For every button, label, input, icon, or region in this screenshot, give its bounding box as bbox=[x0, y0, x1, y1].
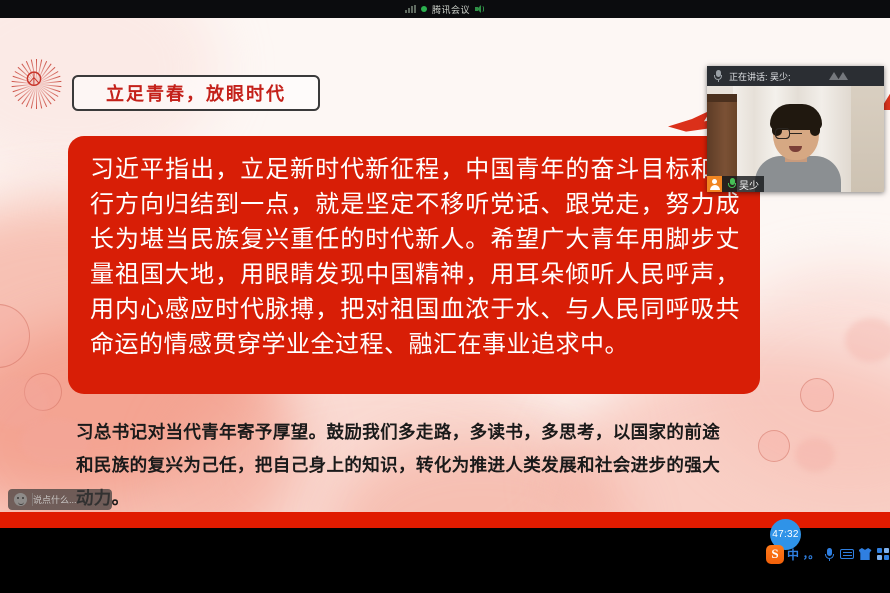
video-feed: 吴少 bbox=[707, 86, 884, 192]
commentary-paragraph: 习总书记对当代青年寄予厚望。鼓励我们多走路，多读书，多思考，以国家的前途和民族的… bbox=[76, 416, 720, 515]
system-top-bar: 腾讯会议 bbox=[0, 0, 890, 18]
page-title: 立足青春，放眼时代 bbox=[106, 80, 286, 106]
divider bbox=[32, 493, 33, 506]
decorative-circle bbox=[0, 378, 48, 428]
sogou-ime-toolbar[interactable]: S 中 ，。 bbox=[766, 543, 890, 565]
chat-input-bar[interactable]: 说点什么... bbox=[8, 489, 112, 510]
video-panel-header[interactable]: 正在讲话: 吴少; bbox=[707, 66, 884, 86]
participant-hair bbox=[770, 104, 822, 130]
decorative-circle bbox=[0, 304, 30, 368]
signal-bars-icon bbox=[405, 5, 416, 13]
decorative-circle bbox=[795, 438, 835, 472]
chat-input-placeholder[interactable]: 说点什么... bbox=[33, 493, 77, 506]
app-name-label: 腾讯会议 bbox=[432, 3, 470, 16]
chinese-mode-toggle[interactable]: 中 bbox=[784, 543, 802, 565]
decorative-circle bbox=[800, 378, 834, 412]
slide-bottom-red-strip bbox=[0, 512, 890, 528]
slide-title-box: 立足青春，放眼时代 bbox=[72, 75, 320, 111]
toolbox-icon[interactable] bbox=[874, 543, 890, 565]
quote-text: 习近平指出，立足新时代新征程，中国青年的奋斗目标和前行方向归结到一点，就是坚定不… bbox=[90, 152, 740, 362]
participant-name-label: 吴少 bbox=[739, 177, 759, 192]
decorative-circle bbox=[845, 318, 890, 362]
microphone-green-icon bbox=[728, 178, 736, 190]
decorative-circle bbox=[24, 373, 62, 411]
decorative-circle bbox=[758, 430, 790, 462]
emoji-face-icon[interactable] bbox=[14, 493, 27, 506]
quote-panel: 习近平指出，立足新时代新征程，中国青年的奋斗目标和前行方向归结到一点，就是坚定不… bbox=[68, 136, 760, 394]
video-participant-panel[interactable]: 正在讲话: 吴少; 吴少 bbox=[707, 66, 884, 192]
communist-party-emblem-icon: ☮ bbox=[8, 56, 64, 112]
microphone-icon bbox=[714, 70, 722, 82]
sogou-logo-icon[interactable]: S bbox=[766, 543, 784, 565]
participant-glasses bbox=[775, 128, 817, 139]
voice-input-icon[interactable] bbox=[820, 543, 838, 565]
speaker-icon bbox=[475, 5, 485, 14]
soft-keyboard-icon[interactable] bbox=[838, 543, 856, 565]
punctuation-toggle[interactable]: ，。 bbox=[802, 543, 820, 565]
participant-name-badge: 吴少 bbox=[707, 176, 764, 192]
double-chevron-icon[interactable] bbox=[828, 71, 850, 82]
desktop-black-background bbox=[0, 528, 890, 593]
skin-theme-icon[interactable] bbox=[856, 543, 874, 565]
green-status-dot bbox=[421, 6, 427, 12]
host-person-icon bbox=[707, 176, 722, 192]
speaking-status-label: 正在讲话: 吴少; bbox=[729, 70, 791, 83]
